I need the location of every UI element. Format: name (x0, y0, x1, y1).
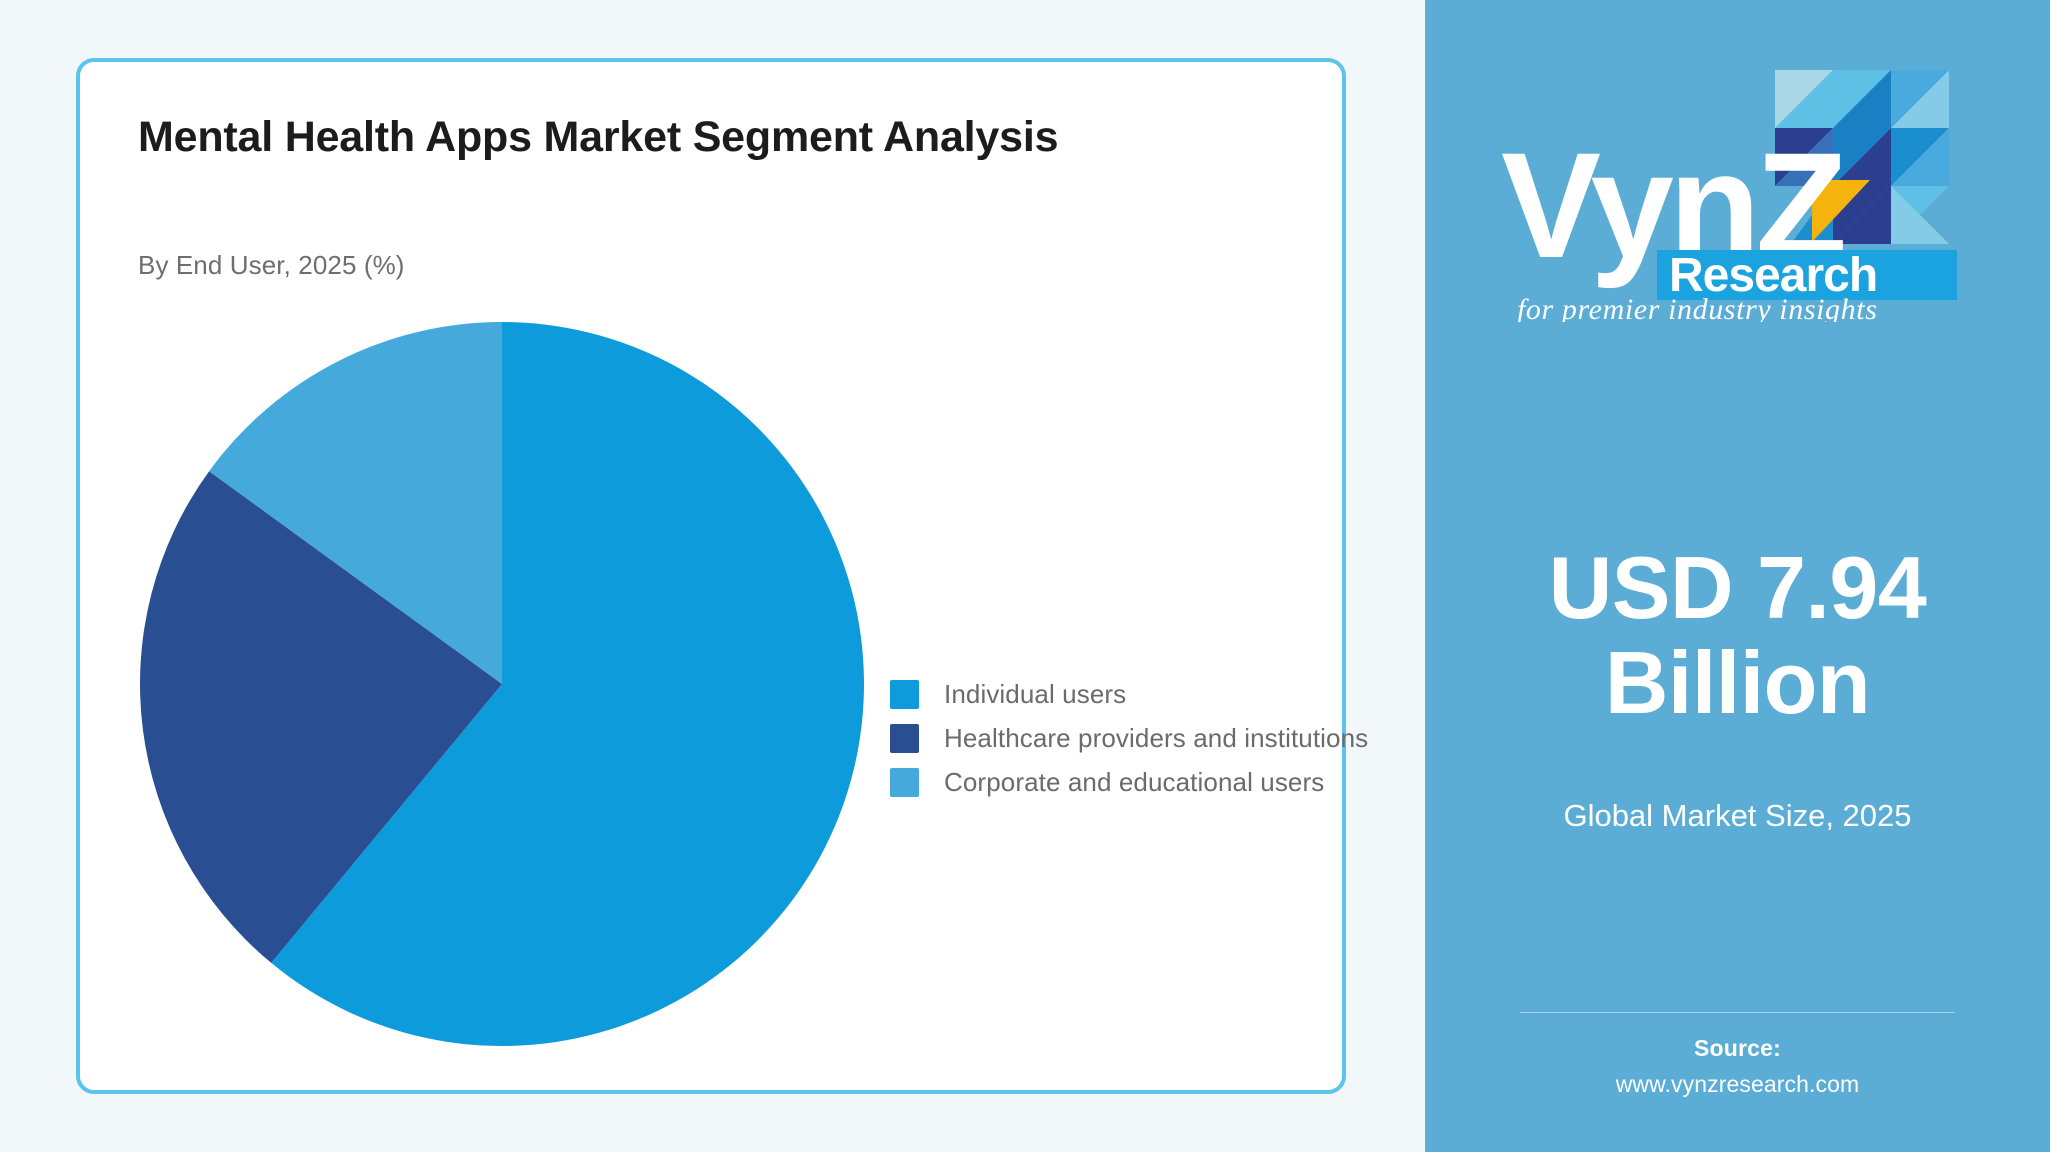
chart-title: Mental Health Apps Market Segment Analys… (138, 112, 1138, 163)
logo-tagline: for premier industry insights (1517, 293, 1877, 322)
source-url[interactable]: www.vynzresearch.com (1485, 1071, 1990, 1098)
pie-chart (138, 320, 866, 1048)
market-size-caption: Global Market Size, 2025 (1485, 795, 1990, 837)
chart-legend: Individual users Healthcare providers an… (890, 672, 1368, 804)
legend-label: Corporate and educational users (944, 767, 1324, 798)
legend-label: Individual users (944, 679, 1126, 710)
legend-swatch-icon (890, 768, 919, 797)
infographic-root: Mental Health Apps Market Segment Analys… (0, 0, 2050, 1152)
pie-chart-svg (138, 320, 866, 1048)
legend-item-corporate-educational[interactable]: Corporate and educational users (890, 760, 1368, 804)
chart-subtitle: By End User, 2025 (%) (138, 250, 405, 281)
vynz-research-logo: VynZ Research for premier industry insig… (1485, 62, 1985, 322)
side-panel: VynZ Research for premier industry insig… (1425, 0, 2050, 1152)
market-size-headline: USD 7.94 Billion (1455, 540, 2020, 730)
chart-card: Mental Health Apps Market Segment Analys… (76, 58, 1346, 1094)
legend-item-healthcare-providers[interactable]: Healthcare providers and institutions (890, 716, 1368, 760)
panel-divider (1520, 1012, 1955, 1013)
legend-label: Healthcare providers and institutions (944, 723, 1368, 754)
legend-swatch-icon (890, 680, 919, 709)
source-block: Source: www.vynzresearch.com (1485, 1035, 1990, 1098)
legend-swatch-icon (890, 724, 919, 753)
source-label: Source: (1485, 1035, 1990, 1062)
logo-svg: VynZ Research for premier industry insig… (1485, 62, 1985, 322)
legend-item-individual-users[interactable]: Individual users (890, 672, 1368, 716)
